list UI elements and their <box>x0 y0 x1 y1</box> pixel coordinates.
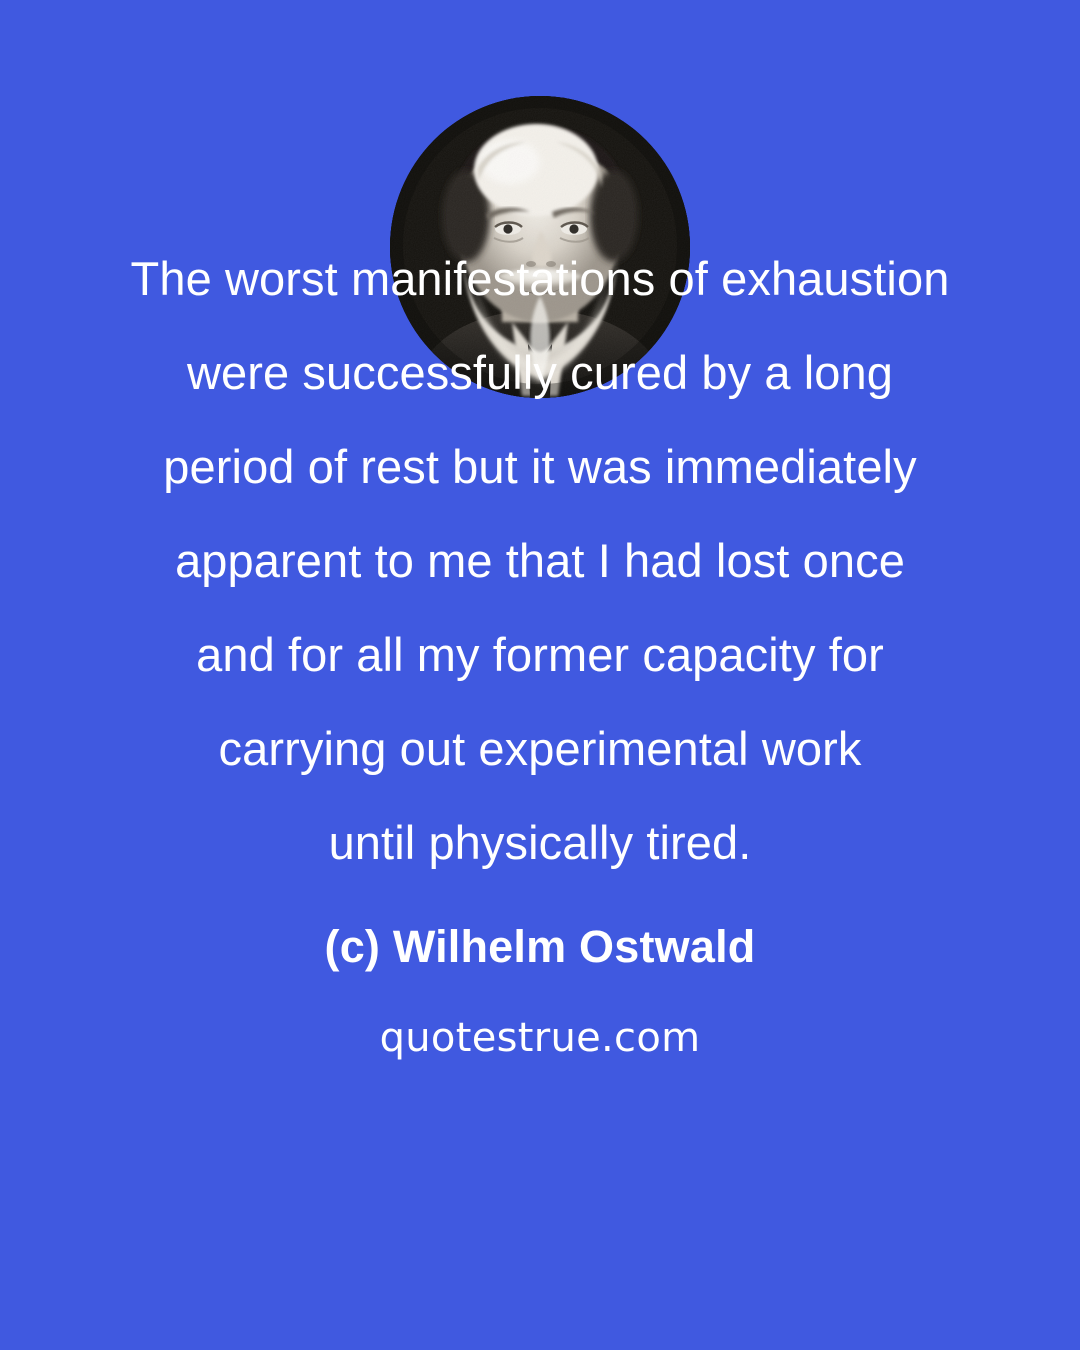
quote-text: The worst manifestations of exhaustion w… <box>0 232 1080 890</box>
quote-card: The worst manifestations of exhaustion w… <box>0 0 1080 1350</box>
quote-attribution: (c) Wilhelm Ostwald <box>0 917 1080 977</box>
quote-line: until physically tired. <box>0 796 1080 890</box>
quote-line: period of rest but it was immediately <box>0 420 1080 514</box>
quote-line: apparent to me that I had lost once <box>0 514 1080 608</box>
quote-line: and for all my former capacity for <box>0 608 1080 702</box>
quote-line: The worst manifestations of exhaustion <box>0 232 1080 326</box>
quote-line: carrying out experimental work <box>0 702 1080 796</box>
quote-line: were successfully cured by a long <box>0 326 1080 420</box>
source-website-label: quotestrue.com <box>0 1010 1080 1066</box>
